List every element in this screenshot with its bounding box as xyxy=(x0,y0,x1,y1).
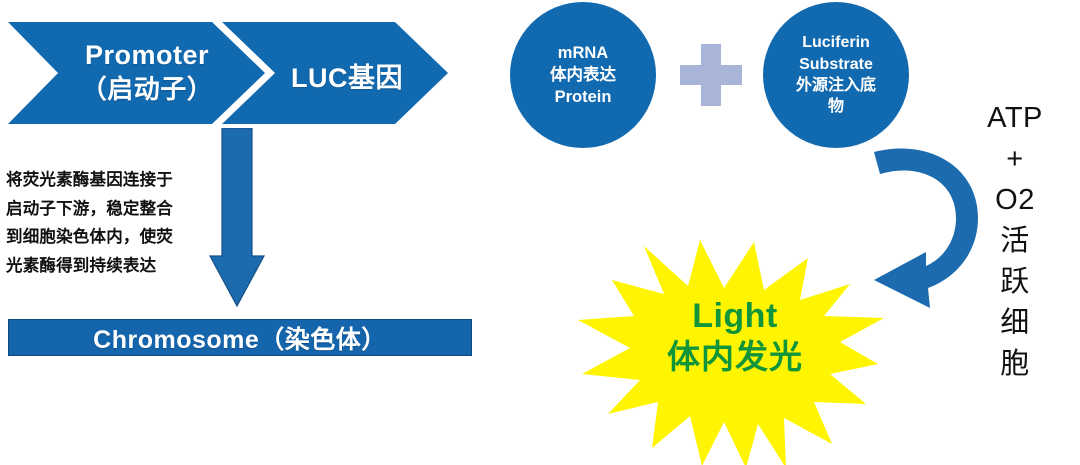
cofactor-line-3: O2 xyxy=(975,180,1055,221)
chevron-shapes xyxy=(0,18,460,128)
circle-luciferin-substrate: Luciferin Substrate 外源注入底 物 xyxy=(763,2,909,148)
diagram-canvas: Promoter （启动子） LUC基因 将荧光素酶基因连接于 启动子下游，稳定… xyxy=(0,0,1080,465)
cofactor-line-4: 活 xyxy=(975,221,1055,262)
cofactor-line-6: 细 xyxy=(975,303,1055,344)
circle-mrna-protein: mRNA 体内表达 Protein xyxy=(510,2,656,148)
circle-luciferin-line-4: 物 xyxy=(828,96,844,117)
process-note-line-3: 到细胞染色体内，使荧 xyxy=(6,223,211,252)
circle-mrna-line-1: mRNA xyxy=(558,42,608,64)
starburst-icon xyxy=(578,238,884,465)
circle-luciferin-line-3: 外源注入底 xyxy=(796,75,876,96)
integration-down-arrow xyxy=(205,128,269,310)
chromosome-bar: Chromosome（染色体） xyxy=(8,319,472,356)
process-note-line-4: 光素酶得到持续表达 xyxy=(6,252,211,281)
process-note: 将荧光素酶基因连接于 启动子下游，稳定整合 到细胞染色体内，使荧 光素酶得到持续… xyxy=(6,166,211,280)
cofactor-line-5: 跃 xyxy=(975,262,1055,303)
cofactor-stack: ATP + O2 活 跃 细 胞 xyxy=(975,98,1055,385)
plus-glyph xyxy=(678,42,744,108)
process-note-line-2: 启动子下游，稳定整合 xyxy=(6,195,211,224)
gene-construct-group: Promoter （启动子） LUC基因 xyxy=(0,18,460,128)
light-burst-shape xyxy=(578,238,884,465)
cofactor-line-7: 胞 xyxy=(975,344,1055,385)
process-note-line-1: 将荧光素酶基因连接于 xyxy=(6,166,211,195)
chromosome-label: Chromosome（染色体） xyxy=(93,320,387,356)
promoter-chevron-shape xyxy=(8,22,265,124)
down-arrow-icon xyxy=(205,128,269,310)
cofactor-line-1: ATP xyxy=(975,98,1055,139)
circle-mrna-line-3: Protein xyxy=(555,86,612,108)
cofactor-line-2: + xyxy=(975,139,1055,180)
plus-icon xyxy=(678,42,744,108)
circle-mrna-line-2: 体内表达 xyxy=(550,64,616,86)
circle-luciferin-line-1: Luciferin xyxy=(802,32,870,53)
circle-luciferin-line-2: Substrate xyxy=(799,54,873,75)
